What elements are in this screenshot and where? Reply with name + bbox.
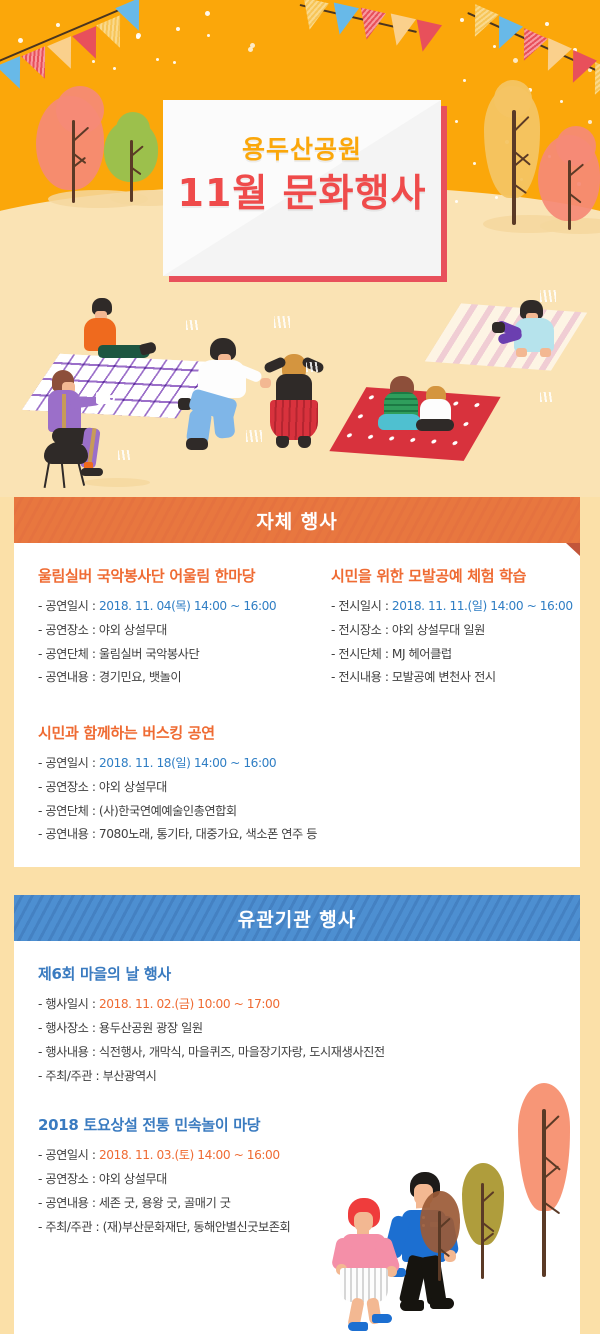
bunting-flag xyxy=(487,16,523,54)
event-line: - 전시일시 : 2018. 11. 11.(일) 14:00 ~ 16:00 xyxy=(331,595,573,619)
event-line: - 전시단체 : MJ 헤어클럽 xyxy=(331,643,573,667)
event-line-label: - 전시일시 : xyxy=(331,599,392,613)
grass-tuft xyxy=(274,316,290,328)
event-item: 시민과 함께하는 버스킹 공연 - 공연일시 : 2018. 11. 18(일)… xyxy=(38,722,317,847)
confetti-dot xyxy=(560,100,563,103)
event-title: 시민과 함께하는 버스킹 공연 xyxy=(38,722,317,743)
grass-tuft xyxy=(246,430,262,442)
section-header-self: 자체 행사 xyxy=(14,497,580,543)
section-body-self: 울림실버 국악봉사단 어울림 한마당 - 공연일시 : 2018. 11. 04… xyxy=(14,543,580,867)
person-sitting-white xyxy=(416,386,464,434)
illustration-couple-walking xyxy=(334,1172,484,1320)
event-column-right: 시민을 위한 모발공예 체험 학습 - 전시일시 : 2018. 11. 11.… xyxy=(331,565,573,847)
spacer xyxy=(38,708,317,722)
person-man-walking xyxy=(392,1172,464,1318)
hero-illustration: 용두산공원 11월 문화행사 xyxy=(0,0,600,497)
event-line: - 공연단체 : (사)한국연예예술인총연합회 xyxy=(38,800,317,824)
event-line-value: 2018. 11. 18(일) 14:00 ~ 16:00 xyxy=(99,756,276,770)
event-line: - 공연단체 : 울림실버 국악봉사단 xyxy=(38,643,317,667)
event-line: - 공연내용 : 7080노래, 통기타, 대중가요, 색소폰 연주 등 xyxy=(38,823,317,847)
confetti-dot xyxy=(463,79,466,82)
event-line: - 행사일시 : 2018. 11. 02.(금) 10:00 ~ 17:00 xyxy=(38,993,556,1017)
event-line: - 주최/주관 : 부산광역시 xyxy=(38,1065,556,1089)
confetti-dot xyxy=(588,120,592,124)
event-line: - 공연내용 : 경기민요, 뱃놀이 xyxy=(38,666,317,690)
event-line: - 공연장소 : 야외 상설무대 xyxy=(38,776,317,800)
event-line: - 행사내용 : 식전행사, 개막식, 마을퀴즈, 마을장기자랑, 도시재생사진… xyxy=(38,1041,556,1065)
event-line: - 공연일시 : 2018. 11. 04(목) 14:00 ~ 16:00 xyxy=(38,595,317,619)
confetti-dot xyxy=(207,34,210,37)
event-title: 시민을 위한 모발공예 체험 학습 xyxy=(331,565,573,586)
event-item: 시민을 위한 모발공예 체험 학습 - 전시일시 : 2018. 11. 11.… xyxy=(331,565,573,690)
event-line-label: - 공연일시 : xyxy=(38,599,99,613)
event-title: 2018 토요상설 전통 민속놀이 마당 xyxy=(38,1114,556,1135)
confetti-dot xyxy=(250,43,255,48)
confetti-dot xyxy=(455,200,458,203)
event-line: - 전시장소 : 야외 상설무대 일원 xyxy=(331,619,573,643)
event-line: - 행사장소 : 용두산공원 광장 일원 xyxy=(38,1017,556,1041)
confetti-dot xyxy=(173,61,176,64)
event-line: - 공연장소 : 야외 상설무대 xyxy=(38,619,317,643)
confetti-dot xyxy=(513,58,518,63)
grass-tuft xyxy=(118,450,132,460)
confetti-dot xyxy=(495,196,498,199)
grass-tuft xyxy=(540,392,554,402)
event-item: 제6회 마을의 날 행사 - 행사일시 : 2018. 11. 02.(금) 1… xyxy=(38,963,556,1088)
confetti-dot xyxy=(545,22,549,26)
event-line-value: 2018. 11. 03.(토) 14:00 ~ 16:00 xyxy=(99,1148,280,1162)
event-line: - 전시내용 : 모발공예 변천사 전시 xyxy=(331,666,573,690)
event-line-value: 2018. 11. 04(목) 14:00 ~ 16:00 xyxy=(99,599,276,613)
confetti-dot xyxy=(156,58,159,61)
poster-title: 11월 문화행사 xyxy=(163,170,441,218)
bunting-flag xyxy=(410,19,442,54)
confetti-dot xyxy=(455,120,458,123)
section-gap xyxy=(0,867,600,895)
confetti-dot xyxy=(473,162,476,165)
event-line-value: 2018. 11. 02.(금) 10:00 ~ 17:00 xyxy=(99,997,280,1011)
event-line-value: 2018. 11. 11.(일) 14:00 ~ 16:00 xyxy=(392,599,573,613)
event-line: - 공연일시 : 2018. 11. 03.(토) 14:00 ~ 16:00 xyxy=(38,1144,556,1168)
confetti-dot xyxy=(205,11,210,16)
grass-tuft xyxy=(540,290,556,302)
section-header-label: 유관기관 행사 xyxy=(238,905,357,932)
event-line-label: - 공연일시 : xyxy=(38,756,99,770)
ribbon-fold-icon xyxy=(566,543,580,556)
bunting-flag xyxy=(327,2,359,37)
event-column-left: 울림실버 국악봉사단 어울림 한마당 - 공연일시 : 2018. 11. 04… xyxy=(38,565,331,847)
confetti-dot xyxy=(18,38,23,43)
event-line-label: - 공연일시 : xyxy=(38,1148,99,1162)
person-sitting-orange xyxy=(78,298,168,370)
confetti-dot xyxy=(176,27,180,31)
section-body-partner: 제6회 마을의 날 행사 - 행사일시 : 2018. 11. 02.(금) 1… xyxy=(14,941,580,1333)
event-line: - 공연일시 : 2018. 11. 18(일) 14:00 ~ 16:00 xyxy=(38,752,317,776)
spacer xyxy=(38,1106,556,1114)
grass-tuft xyxy=(186,320,200,330)
person-girl-walking xyxy=(338,1198,398,1320)
section-self-events: 자체 행사 울림실버 국악봉사단 어울림 한마당 - 공연일시 : 2018. … xyxy=(0,497,600,867)
event-title: 제6회 마을의 날 행사 xyxy=(38,963,556,984)
confetti-dot xyxy=(460,18,464,22)
confetti-dot xyxy=(136,35,140,39)
confetti-dot xyxy=(56,23,60,27)
section-partner-events: 유관기관 행사 제6회 마을의 날 행사 - 행사일시 : 2018. 11. … xyxy=(0,895,600,1333)
section-header-partner: 유관기관 행사 xyxy=(14,895,580,941)
grass-tuft xyxy=(306,362,320,372)
event-title: 울림실버 국악봉사단 어울림 한마당 xyxy=(38,565,317,586)
event-line-label: - 행사일시 : xyxy=(38,997,99,1011)
title-card: 용두산공원 11월 문화행사 xyxy=(163,100,447,282)
section-header-label: 자체 행사 xyxy=(256,507,338,534)
event-item: 울림실버 국악봉사단 어울림 한마당 - 공연일시 : 2018. 11. 04… xyxy=(38,565,317,690)
poster-subtitle: 용두산공원 xyxy=(163,136,441,164)
confetti-dot xyxy=(92,60,95,63)
confetti-dot xyxy=(113,67,116,70)
bunting-flag xyxy=(115,0,151,36)
person-sitting-lightblue xyxy=(492,300,574,358)
